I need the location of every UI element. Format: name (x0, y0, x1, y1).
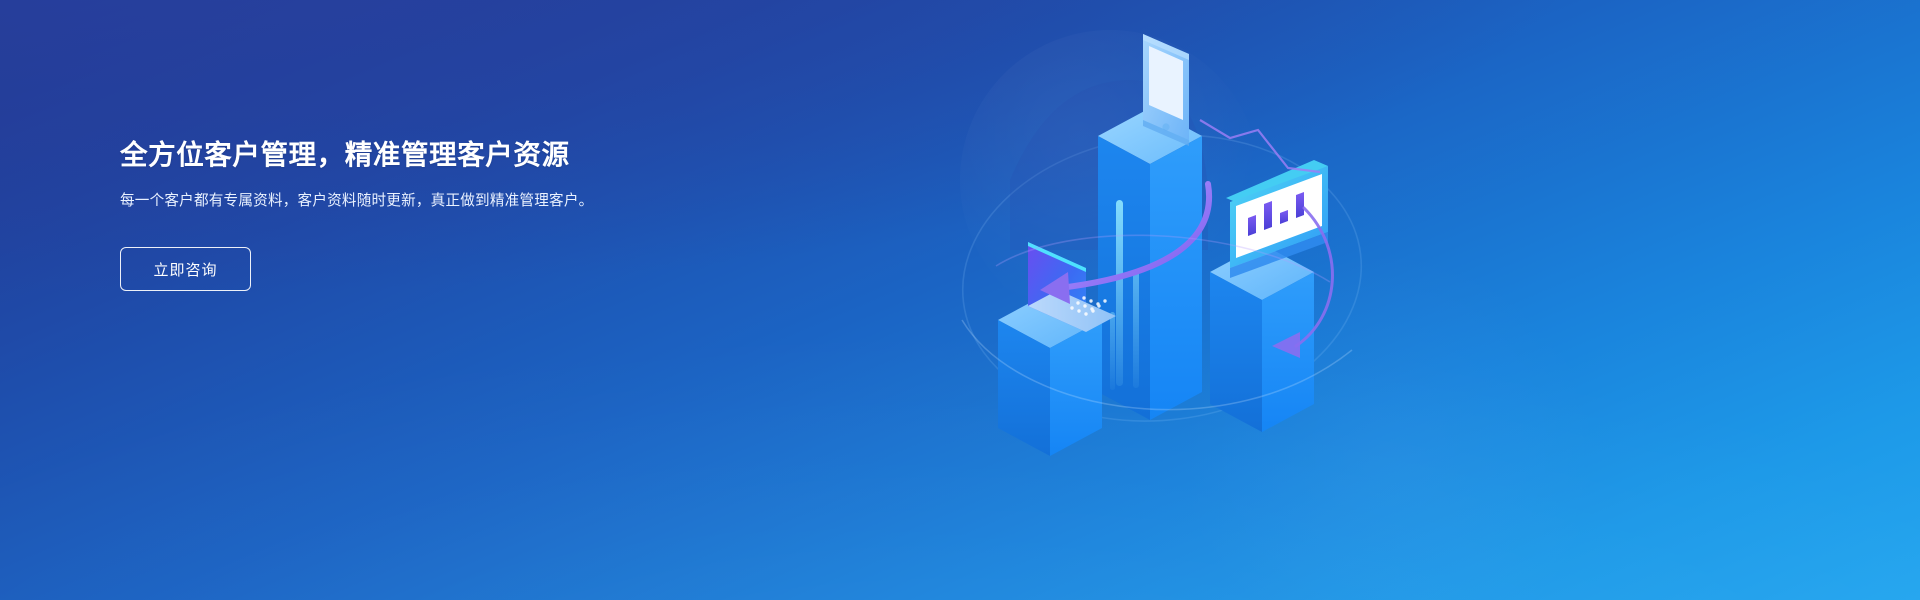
hero-copy-block: 全方位客户管理，精准管理客户资源 每一个客户都有专属资料，客户资料随时更新，真正… (120, 138, 760, 291)
hero-illustration (900, 20, 1420, 480)
glow-bar-tall (1116, 200, 1123, 386)
hero-subtitle: 每一个客户都有专属资料，客户资料随时更新，真正做到精准管理客户。 (120, 190, 602, 214)
decor-polyline (1200, 120, 1320, 172)
consult-now-button[interactable]: 立即咨询 (120, 247, 251, 291)
glow-bar-mid (1133, 270, 1139, 388)
glow-bar-short (1110, 312, 1115, 390)
page-title: 全方位客户管理，精准管理客户资源 (120, 138, 760, 172)
hero-banner: 全方位客户管理，精准管理客户资源 每一个客户都有专属资料，客户资料随时更新，真正… (0, 0, 1920, 600)
